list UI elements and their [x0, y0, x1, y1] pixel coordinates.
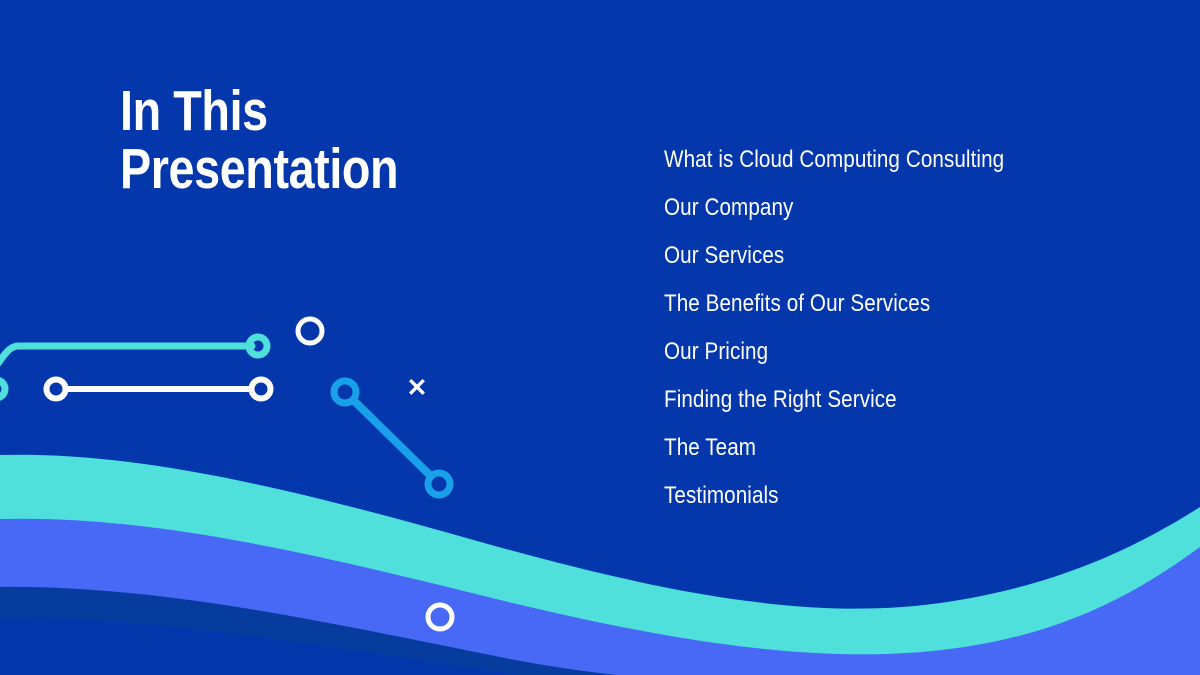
wave-dark-base: [0, 587, 1200, 675]
turquoise-connector-line: [0, 346, 252, 372]
agenda-item-8[interactable]: Testimonials: [664, 478, 1094, 526]
turquoise-node-edge: [0, 380, 5, 398]
azure-diagonal-line: [345, 392, 439, 484]
wave-royal-blue: [0, 519, 1200, 675]
white-node-left: [47, 380, 66, 399]
page-title: In This Presentation: [120, 82, 546, 198]
agenda-item-7[interactable]: The Team: [664, 430, 1094, 478]
turquoise-node-right: [249, 337, 267, 355]
agenda-item-4[interactable]: The Benefits of Our Services: [664, 286, 1094, 334]
agenda-item-2[interactable]: Our Company: [664, 190, 1094, 238]
agenda-item-1[interactable]: What is Cloud Computing Consulting: [664, 142, 1094, 190]
agenda-list: What is Cloud Computing Consulting Our C…: [664, 142, 1164, 526]
agenda-item-5[interactable]: Our Pricing: [664, 334, 1094, 382]
azure-node-bottom: [428, 473, 450, 495]
x-mark-icon: ✕: [405, 376, 429, 400]
agenda-item-3[interactable]: Our Services: [664, 238, 1094, 286]
wave-deep-blue: [0, 617, 520, 675]
white-node-right: [252, 380, 271, 399]
presentation-slide: ✕ In This Presentation What is Cloud Com…: [0, 0, 1200, 675]
azure-node-top: [334, 381, 356, 403]
white-ring-lower: [428, 605, 452, 629]
agenda-item-6[interactable]: Finding the Right Service: [664, 382, 1094, 430]
white-ring-upper: [298, 319, 322, 343]
